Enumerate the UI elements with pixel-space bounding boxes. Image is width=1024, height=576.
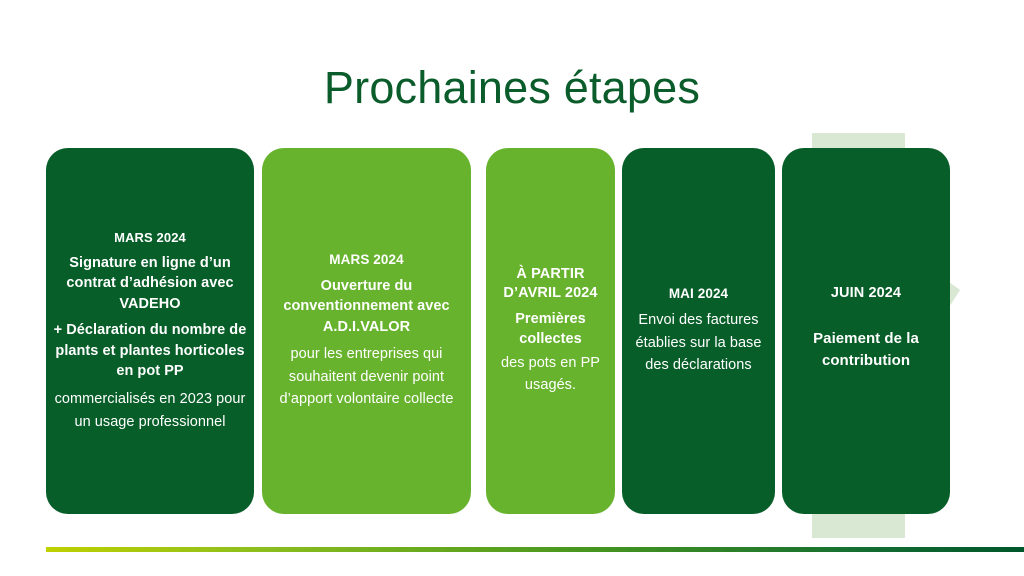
step-5-date: JUIN 2024 (831, 284, 901, 304)
step-card-3[interactable]: À PARTIR D’AVRIL 2024 Premières collecte… (486, 148, 615, 514)
step-card-5[interactable]: JUIN 2024 Paiement de la contribution (782, 148, 950, 514)
step-card-1[interactable]: MARS 2024 Signature en ligne d’un contra… (46, 148, 254, 514)
step-2-headline: Ouverture du conventionnement avec A.D.I… (269, 276, 464, 338)
step-1-headline: Signature en ligne d’un contrat d’adhési… (53, 253, 247, 315)
step-1-date: MARS 2024 (114, 229, 186, 247)
footer-accent-rule (46, 547, 1024, 552)
step-2-date: MARS 2024 (329, 251, 403, 269)
steps-row: MARS 2024 Signature en ligne d’un contra… (0, 0, 1024, 576)
step-card-2[interactable]: MARS 2024 Ouverture du conventionnement … (262, 148, 471, 514)
step-4-body: Envoi des factures établies sur la base … (629, 309, 768, 376)
slide-canvas: Prochaines étapes MARS 2024 Signature en… (0, 0, 1024, 576)
step-2-body: pour les entreprises qui souhaitent deve… (269, 343, 464, 410)
step-card-4[interactable]: MAI 2024 Envoi des factures établies sur… (622, 148, 775, 514)
step-3-body: des pots en PP usagés. (493, 352, 608, 397)
step-3-headline: Premières collectes (493, 309, 608, 350)
step-3-date: À PARTIR D’AVRIL 2024 (493, 265, 608, 303)
step-5-headline: Paiement de la contribution (789, 328, 943, 372)
step-1-headline-secondary: + Déclaration du nombre de plants et pla… (53, 320, 247, 382)
step-1-body: commercialisés en 2023 pour un usage pro… (53, 388, 247, 433)
step-4-date: MAI 2024 (669, 285, 728, 303)
